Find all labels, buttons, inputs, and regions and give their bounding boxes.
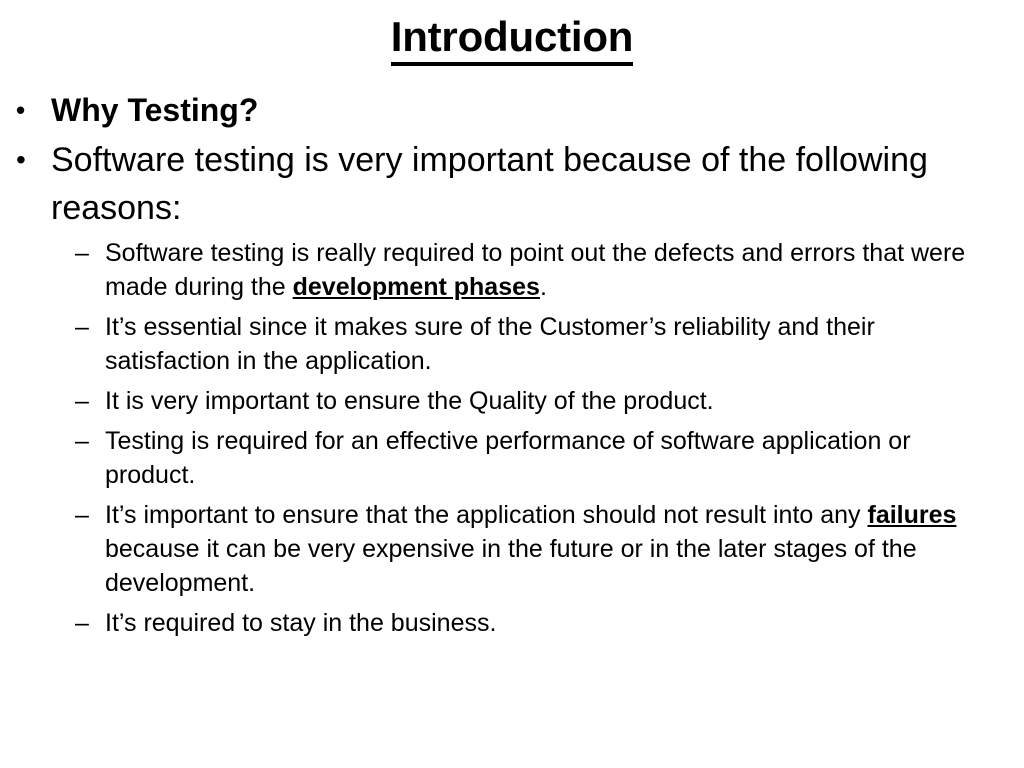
- list-item: – It is very important to ensure the Qua…: [13, 384, 978, 418]
- bullet-dash-icon: –: [75, 424, 99, 458]
- bullet-level1-reasons-intro: • Software testing is very important bec…: [13, 136, 978, 232]
- list-item-text: It’s required to stay in the business.: [105, 609, 496, 637]
- bullet-level1-text: Software testing is very important becau…: [51, 141, 928, 227]
- list-item: – It’s required to stay in the business.: [13, 606, 978, 640]
- bullet-dash-icon: –: [75, 606, 99, 640]
- page-title: Introduction: [0, 13, 1024, 66]
- list-item: – Testing is required for an effective p…: [13, 424, 978, 492]
- emphasis-failures: failures: [868, 501, 957, 529]
- emphasis-development-phases: development phases: [293, 273, 540, 301]
- list-item: – It’s essential since it makes sure of …: [13, 310, 978, 378]
- list-item-text-part: because it can be very expensive in the …: [105, 535, 917, 597]
- page-title-text: Introduction: [391, 13, 634, 66]
- list-item-text-part: .: [540, 273, 547, 301]
- bullet-dot-icon: •: [16, 136, 42, 184]
- slide: Introduction • Why Testing? • Software t…: [0, 0, 1024, 768]
- bullet-level1-why-testing: • Why Testing?: [13, 86, 978, 134]
- sub-bullet-list: – Software testing is really required to…: [13, 236, 978, 640]
- slide-body: • Why Testing? • Software testing is ver…: [13, 86, 978, 646]
- bullet-dash-icon: –: [75, 310, 99, 344]
- list-item-text: Software testing is really required to p…: [105, 239, 965, 301]
- list-item-text: It is very important to ensure the Quali…: [105, 387, 714, 415]
- list-item: – Software testing is really required to…: [13, 236, 978, 304]
- list-item-text: It’s important to ensure that the applic…: [105, 501, 956, 597]
- list-item: – It’s important to ensure that the appl…: [13, 498, 978, 600]
- bullet-dash-icon: –: [75, 384, 99, 418]
- list-item-text: It’s essential since it makes sure of th…: [105, 313, 875, 375]
- bullet-level1-text: Why Testing?: [51, 92, 258, 128]
- list-item-text-part: It’s important to ensure that the applic…: [105, 501, 868, 529]
- bullet-dot-icon: •: [16, 86, 42, 134]
- bullet-dash-icon: –: [75, 498, 99, 532]
- list-item-text: Testing is required for an effective per…: [105, 427, 911, 489]
- bullet-dash-icon: –: [75, 236, 99, 270]
